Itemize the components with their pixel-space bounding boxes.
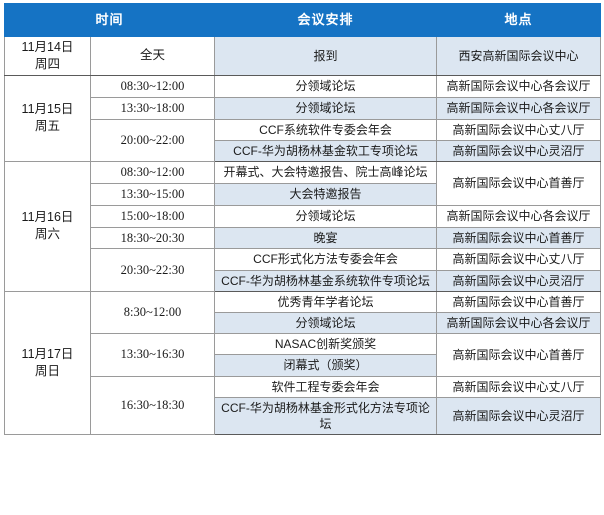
session-time-cell: 08:30~12:00 <box>91 75 215 97</box>
table-row: 20:00~22:00CCF系统软件专委会年会高新国际会议中心丈八厅 <box>5 119 601 140</box>
header-row: 时间 会议安排 地点 <box>5 4 601 37</box>
day-date-text: 11月17日 <box>8 346 87 363</box>
session-time-cell: 08:30~12:00 <box>91 161 215 183</box>
table-row: 18:30~20:30晚宴高新国际会议中心首善厅 <box>5 227 601 249</box>
session-title-cell: CCF系统软件专委会年会 <box>215 119 437 140</box>
table-header: 时间 会议安排 地点 <box>5 4 601 37</box>
session-title-cell: 闭幕式（颁奖） <box>215 355 437 376</box>
table-row: 20:30~22:30CCF形式化方法专委会年会高新国际会议中心丈八厅 <box>5 249 601 270</box>
day-date-cell: 11月15日周五 <box>5 75 91 161</box>
day-date-text: 11月16日 <box>8 209 87 226</box>
session-venue-cell: 高新国际会议中心丈八厅 <box>437 119 601 140</box>
session-venue-cell: 高新国际会议中心首善厅 <box>437 161 601 205</box>
day-date-text: 11月14日 <box>8 39 87 56</box>
session-time-cell: 16:30~18:30 <box>91 376 215 435</box>
session-venue-cell: 高新国际会议中心灵沼厅 <box>437 140 601 161</box>
table-row: 13:30~18:00分领域论坛高新国际会议中心各会议厅 <box>5 97 601 119</box>
session-title-cell: 分领域论坛 <box>215 312 437 333</box>
session-title-cell: NASAC创新奖颁奖 <box>215 334 437 355</box>
session-venue-cell: 高新国际会议中心丈八厅 <box>437 376 601 397</box>
session-venue-cell: 高新国际会议中心各会议厅 <box>437 312 601 333</box>
session-venue-cell: 高新国际会议中心各会议厅 <box>437 205 601 227</box>
conference-schedule-container: 时间 会议安排 地点 11月14日周四全天报到西安高新国际会议中心11月15日周… <box>0 0 604 515</box>
column-header-time: 时间 <box>5 4 215 37</box>
session-title-cell: CCF-华为胡杨林基金形式化方法专项论坛 <box>215 397 437 434</box>
session-time-cell: 8:30~12:00 <box>91 291 215 333</box>
day-weekday-text: 周六 <box>8 226 87 243</box>
conference-schedule-table: 时间 会议安排 地点 11月14日周四全天报到西安高新国际会议中心11月15日周… <box>4 3 601 435</box>
session-time-cell: 18:30~20:30 <box>91 227 215 249</box>
session-venue-cell: 高新国际会议中心各会议厅 <box>437 97 601 119</box>
session-title-cell: 软件工程专委会年会 <box>215 376 437 397</box>
day-date-cell: 11月17日周日 <box>5 291 91 434</box>
session-venue-cell: 西安高新国际会议中心 <box>437 37 601 76</box>
table-row: 11月17日周日8:30~12:00优秀青年学者论坛高新国际会议中心首善厅 <box>5 291 601 312</box>
table-row: 11月16日周六08:30~12:00开幕式、大会特邀报告、院士高峰论坛高新国际… <box>5 161 601 183</box>
session-title-cell: 晚宴 <box>215 227 437 249</box>
table-body: 11月14日周四全天报到西安高新国际会议中心11月15日周五08:30~12:0… <box>5 37 601 435</box>
session-time-cell: 13:30~18:00 <box>91 97 215 119</box>
day-weekday-text: 周四 <box>8 56 87 73</box>
table-row: 16:30~18:30软件工程专委会年会高新国际会议中心丈八厅 <box>5 376 601 397</box>
day-date-cell: 11月16日周六 <box>5 161 91 291</box>
session-title-cell: 分领域论坛 <box>215 205 437 227</box>
session-title-cell: 优秀青年学者论坛 <box>215 291 437 312</box>
table-row: 15:00~18:00分领域论坛高新国际会议中心各会议厅 <box>5 205 601 227</box>
session-title-cell: 分领域论坛 <box>215 97 437 119</box>
session-time-cell: 13:30~16:30 <box>91 334 215 376</box>
day-weekday-text: 周五 <box>8 118 87 135</box>
table-row: 11月14日周四全天报到西安高新国际会议中心 <box>5 37 601 76</box>
session-venue-cell: 高新国际会议中心灵沼厅 <box>437 270 601 291</box>
column-header-meeting: 会议安排 <box>215 4 437 37</box>
session-time-cell: 15:00~18:00 <box>91 205 215 227</box>
session-venue-cell: 高新国际会议中心灵沼厅 <box>437 397 601 434</box>
day-date-cell: 11月14日周四 <box>5 37 91 76</box>
session-time-cell: 20:00~22:00 <box>91 119 215 161</box>
session-venue-cell: 高新国际会议中心首善厅 <box>437 291 601 312</box>
session-title-cell: CCF-华为胡杨林基金系统软件专项论坛 <box>215 270 437 291</box>
session-venue-cell: 高新国际会议中心首善厅 <box>437 334 601 376</box>
day-date-text: 11月15日 <box>8 101 87 118</box>
session-time-cell: 全天 <box>91 37 215 76</box>
session-venue-cell: 高新国际会议中心各会议厅 <box>437 75 601 97</box>
session-venue-cell: 高新国际会议中心首善厅 <box>437 227 601 249</box>
table-row: 13:30~16:30NASAC创新奖颁奖高新国际会议中心首善厅 <box>5 334 601 355</box>
session-time-cell: 13:30~15:00 <box>91 183 215 205</box>
column-header-place: 地点 <box>437 4 601 37</box>
session-title-cell: 分领域论坛 <box>215 75 437 97</box>
table-row: 11月15日周五08:30~12:00分领域论坛高新国际会议中心各会议厅 <box>5 75 601 97</box>
session-title-cell: 开幕式、大会特邀报告、院士高峰论坛 <box>215 161 437 183</box>
session-title-cell: CCF-华为胡杨林基金软工专项论坛 <box>215 140 437 161</box>
session-title-cell: CCF形式化方法专委会年会 <box>215 249 437 270</box>
session-title-cell: 报到 <box>215 37 437 76</box>
session-time-cell: 20:30~22:30 <box>91 249 215 291</box>
session-title-cell: 大会特邀报告 <box>215 183 437 205</box>
day-weekday-text: 周日 <box>8 363 87 380</box>
session-venue-cell: 高新国际会议中心丈八厅 <box>437 249 601 270</box>
